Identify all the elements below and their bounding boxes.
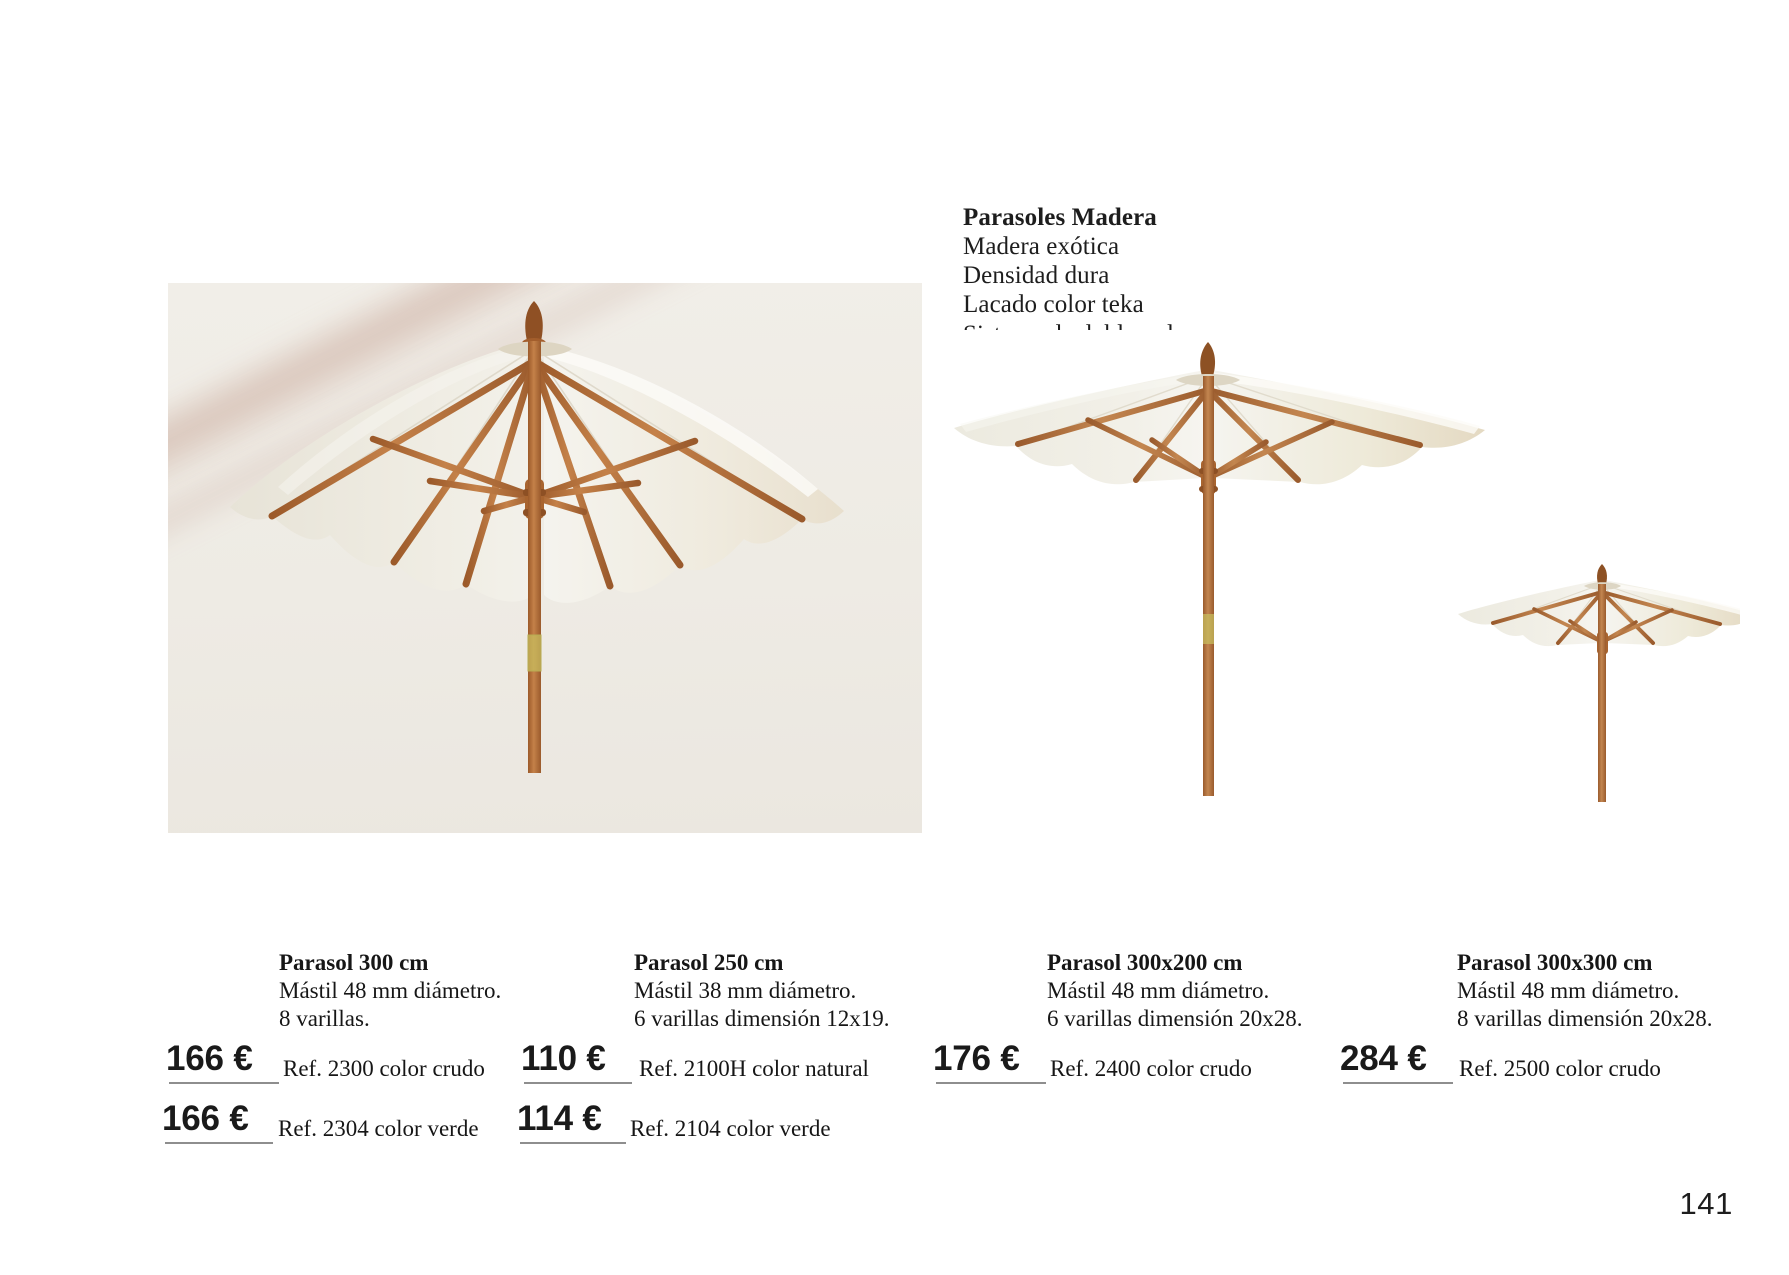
- parasol-300x300: [1458, 564, 1740, 802]
- price-reference: Ref. 2400 color crudo: [1050, 1056, 1252, 1082]
- product-spec-line-1: Mástil 48 mm diámetro.: [1047, 977, 1427, 1005]
- price-row: 114 € Ref. 2104 color verde: [634, 1093, 1014, 1153]
- product-family-title: Parasoles Madera: [963, 203, 1196, 232]
- price-amount: 284 €: [1340, 1039, 1427, 1079]
- price-amount: 166 €: [166, 1039, 253, 1079]
- product-column-4: Parasol 300x300 cm Mástil 48 mm diámetro…: [1457, 949, 1789, 1093]
- price-amount: 166 €: [162, 1099, 249, 1139]
- product-spec-line-1: Mástil 38 mm diámetro.: [634, 977, 1014, 1005]
- spec-line-material: Madera exótica: [963, 232, 1196, 261]
- price-reference: Ref. 2104 color verde: [630, 1116, 831, 1142]
- product-spec-line-2: 6 varillas dimensión 12x19.: [634, 1005, 1014, 1033]
- product-family-spec: Parasoles Madera Madera exótica Densidad…: [963, 203, 1196, 349]
- price-amount: 110 €: [521, 1039, 606, 1079]
- photo-round-parasol: [168, 283, 922, 833]
- price-underline: [169, 1082, 279, 1084]
- price-row: 284 € Ref. 2500 color crudo: [1457, 1033, 1789, 1093]
- price-reference: Ref. 2300 color crudo: [283, 1056, 485, 1082]
- product-spec-line-1: Mástil 48 mm diámetro.: [279, 977, 639, 1005]
- price-underline: [524, 1082, 632, 1084]
- price-amount: 176 €: [933, 1039, 1020, 1079]
- product-spec-line-2: 6 varillas dimensión 20x28.: [1047, 1005, 1427, 1033]
- price-underline: [936, 1082, 1046, 1084]
- photo-rectangular-parasols: [940, 330, 1740, 810]
- product-title: Parasol 300 cm: [279, 949, 639, 977]
- price-underline: [520, 1142, 626, 1144]
- price-amount: 114 €: [517, 1099, 602, 1139]
- page-number: 141: [1679, 1186, 1733, 1222]
- rectangular-parasols-illustration: [940, 330, 1740, 810]
- product-spec-line-2: 8 varillas.: [279, 1005, 639, 1033]
- spec-line-finish: Lacado color teka: [963, 290, 1196, 319]
- spec-line-density: Densidad dura: [963, 261, 1196, 290]
- price-reference: Ref. 2500 color crudo: [1459, 1056, 1661, 1082]
- price-underline: [1343, 1082, 1453, 1084]
- price-reference: Ref. 2304 color verde: [278, 1116, 479, 1142]
- price-underline: [165, 1142, 273, 1144]
- product-spec-line-1: Mástil 48 mm diámetro.: [1457, 977, 1789, 1005]
- price-reference: Ref. 2100H color natural: [639, 1056, 869, 1082]
- product-title: Parasol 250 cm: [634, 949, 1014, 977]
- product-spec-line-2: 8 varillas dimensión 20x28.: [1457, 1005, 1789, 1033]
- product-title: Parasol 300x200 cm: [1047, 949, 1427, 977]
- round-parasol-illustration: [168, 283, 922, 833]
- catalog-page: Parasoles Madera Madera exótica Densidad…: [0, 0, 1789, 1275]
- parasol-300x200: [954, 342, 1485, 796]
- product-title: Parasol 300x300 cm: [1457, 949, 1789, 977]
